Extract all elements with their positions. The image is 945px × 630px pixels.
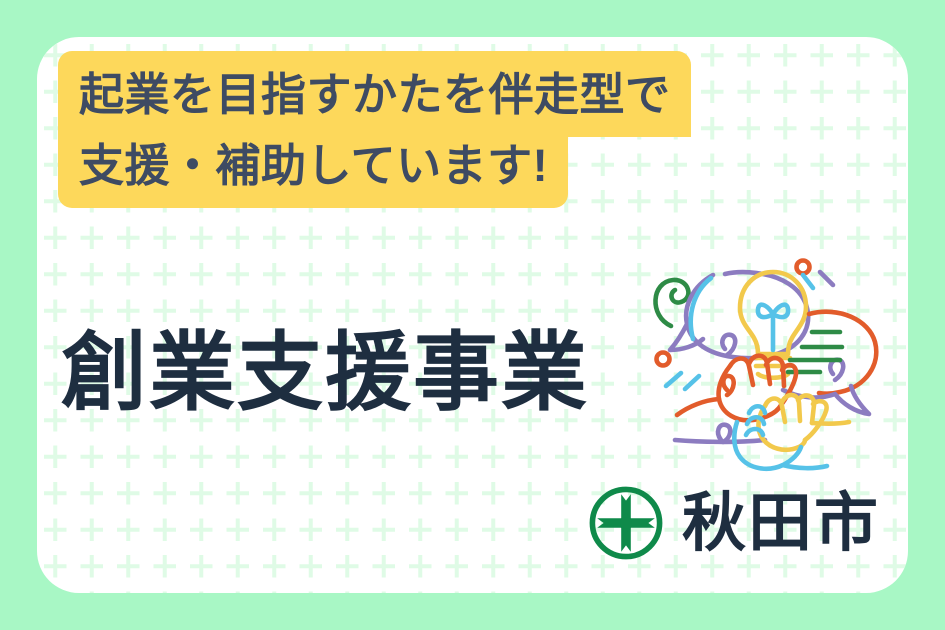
headline-line-1: 起業を目指すかたを伴走型で [58, 51, 691, 137]
main-title: 創業支援事業 [61, 325, 589, 421]
poster-card: 起業を目指すかたを伴走型で 支援・補助しています! 創業支援事業 [37, 37, 908, 593]
collaboration-idea-icon [637, 242, 907, 482]
akita-city-emblem-icon [586, 483, 666, 563]
city-name-label: 秋田市 [682, 489, 880, 557]
akita-city-logo: 秋田市 [586, 483, 880, 563]
poster-root: 起業を目指すかたを伴走型で 支援・補助しています! 創業支援事業 [0, 0, 945, 630]
headline-line-2: 支援・補助しています! [58, 135, 568, 208]
headline-block: 起業を目指すかたを伴走型で 支援・補助しています! [58, 51, 858, 208]
